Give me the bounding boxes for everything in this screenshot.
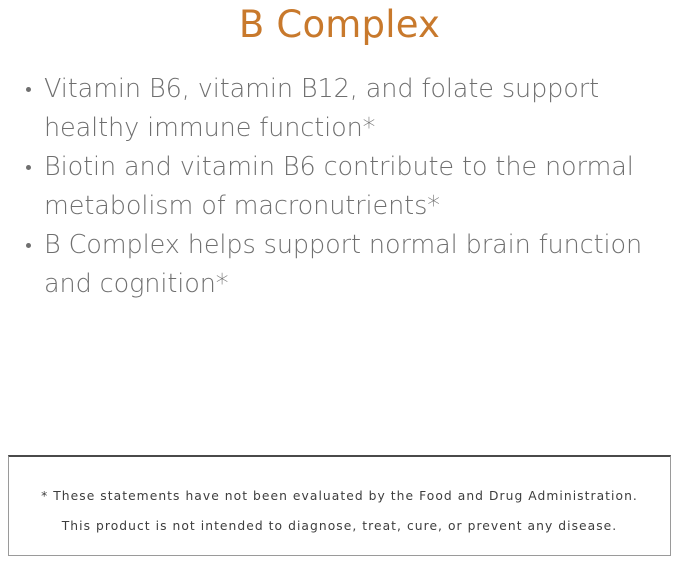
fda-disclaimer-box: * These statements have not been evaluat… <box>8 455 671 556</box>
list-item: Vitamin B6, vitamin B12, and folate supp… <box>22 70 660 148</box>
list-item: Biotin and vitamin B6 contribute to the … <box>22 148 660 226</box>
benefit-claims-list: Vitamin B6, vitamin B12, and folate supp… <box>22 70 660 304</box>
bullet-dot-icon <box>26 165 31 170</box>
list-item: B Complex helps support normal brain fun… <box>22 226 660 304</box>
bullet-dot-icon <box>26 243 31 248</box>
disclaimer-line-1: * These statements have not been evaluat… <box>9 489 670 503</box>
product-info-panel: B Complex Vitamin B6, vitamin B12, and f… <box>0 0 679 566</box>
benefit-text: Biotin and vitamin B6 contribute to the … <box>44 152 634 221</box>
page-title: B Complex <box>0 2 679 48</box>
benefit-text: B Complex helps support normal brain fun… <box>44 230 642 299</box>
bullet-dot-icon <box>26 87 31 92</box>
benefit-text: Vitamin B6, vitamin B12, and folate supp… <box>44 74 599 143</box>
disclaimer-line-2: This product is not intended to diagnose… <box>9 519 670 533</box>
